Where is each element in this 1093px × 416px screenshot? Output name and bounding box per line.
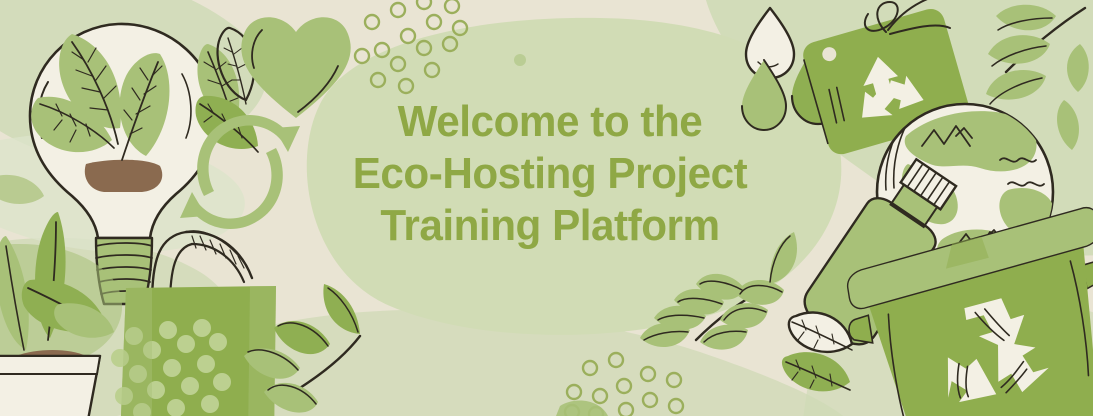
eco-hosting-welcome-banner: Welcome to the Eco-Hosting Project Train… [0, 0, 1093, 416]
decorative-illustration-canvas [0, 0, 1093, 416]
plant-pot-rim [0, 356, 100, 374]
lightbulb-soil [85, 160, 162, 192]
small-dot-accent [514, 54, 526, 66]
